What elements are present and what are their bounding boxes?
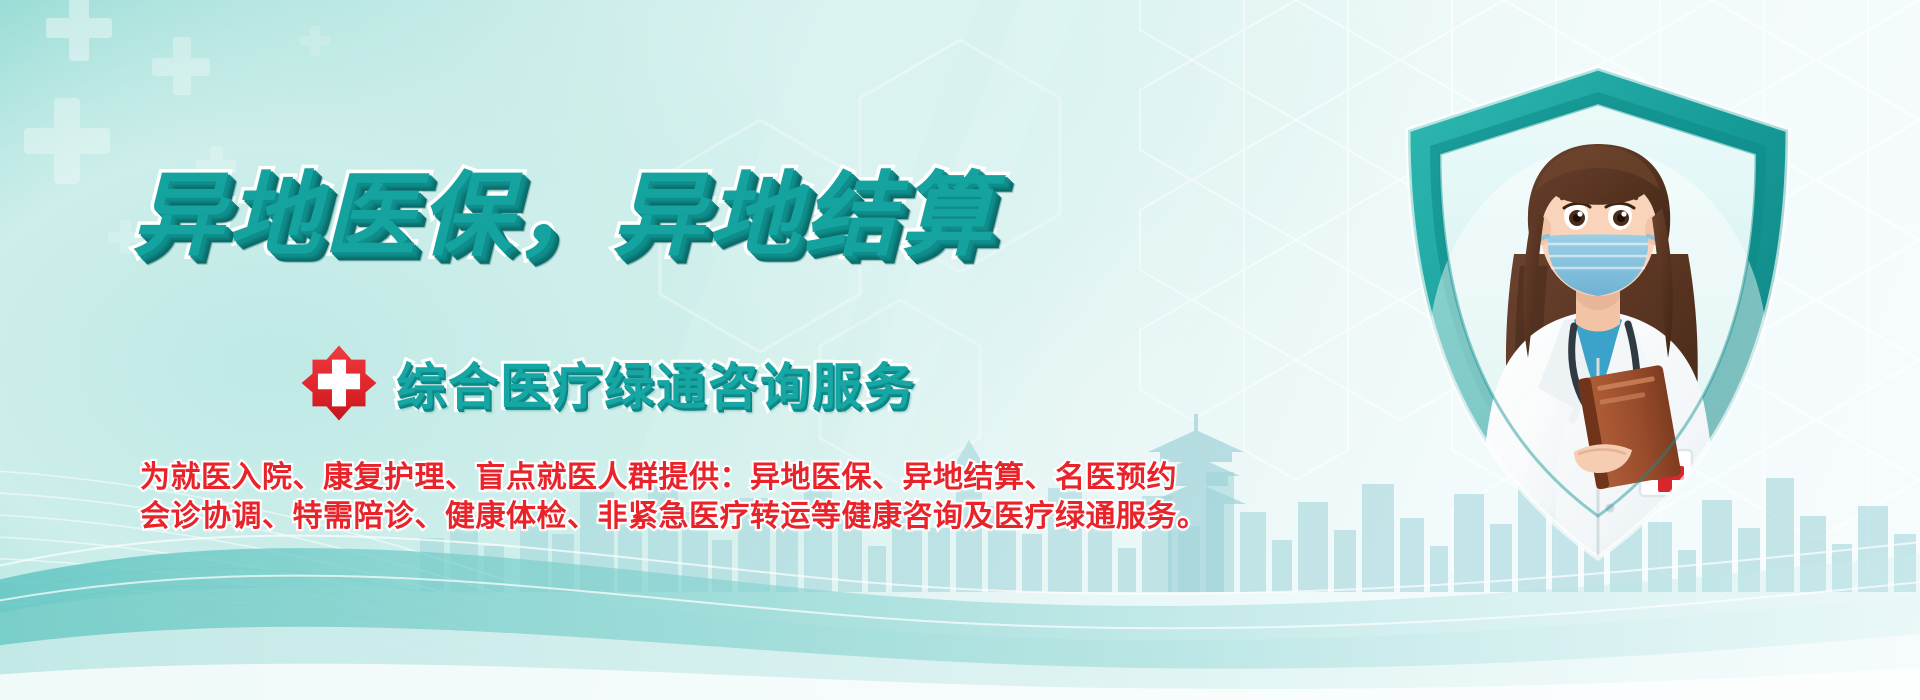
female-doctor-shield-icon (1388, 58, 1808, 578)
description-block: 为就医入院、康复护理、盲点就医人群提供：异地医保、异地结算、名医预约 会诊协调、… (140, 458, 1070, 536)
main-title: 异地医保，异地结算 (132, 170, 1092, 262)
description-line-1: 为就医入院、康复护理、盲点就医人群提供：异地医保、异地结算、名医预约 (140, 458, 1070, 497)
red-cross-diamond-icon (300, 344, 378, 422)
medical-service-banner: 异地医保，异地结算 综合医疗绿通咨询服务 为就医入院、康复护理、盲点就医人群提供… (0, 0, 1920, 700)
description-line-2: 会诊协调、特需陪诊、健康体检、非紧急医疗转运等健康咨询及医疗绿通服务。 (140, 497, 1070, 536)
headline-wrap: 异地医保，异地结算 (132, 170, 1092, 262)
subtitle-row: 综合医疗绿通咨询服务 (300, 344, 916, 422)
subtitle-text: 综合医疗绿通咨询服务 (396, 347, 916, 419)
